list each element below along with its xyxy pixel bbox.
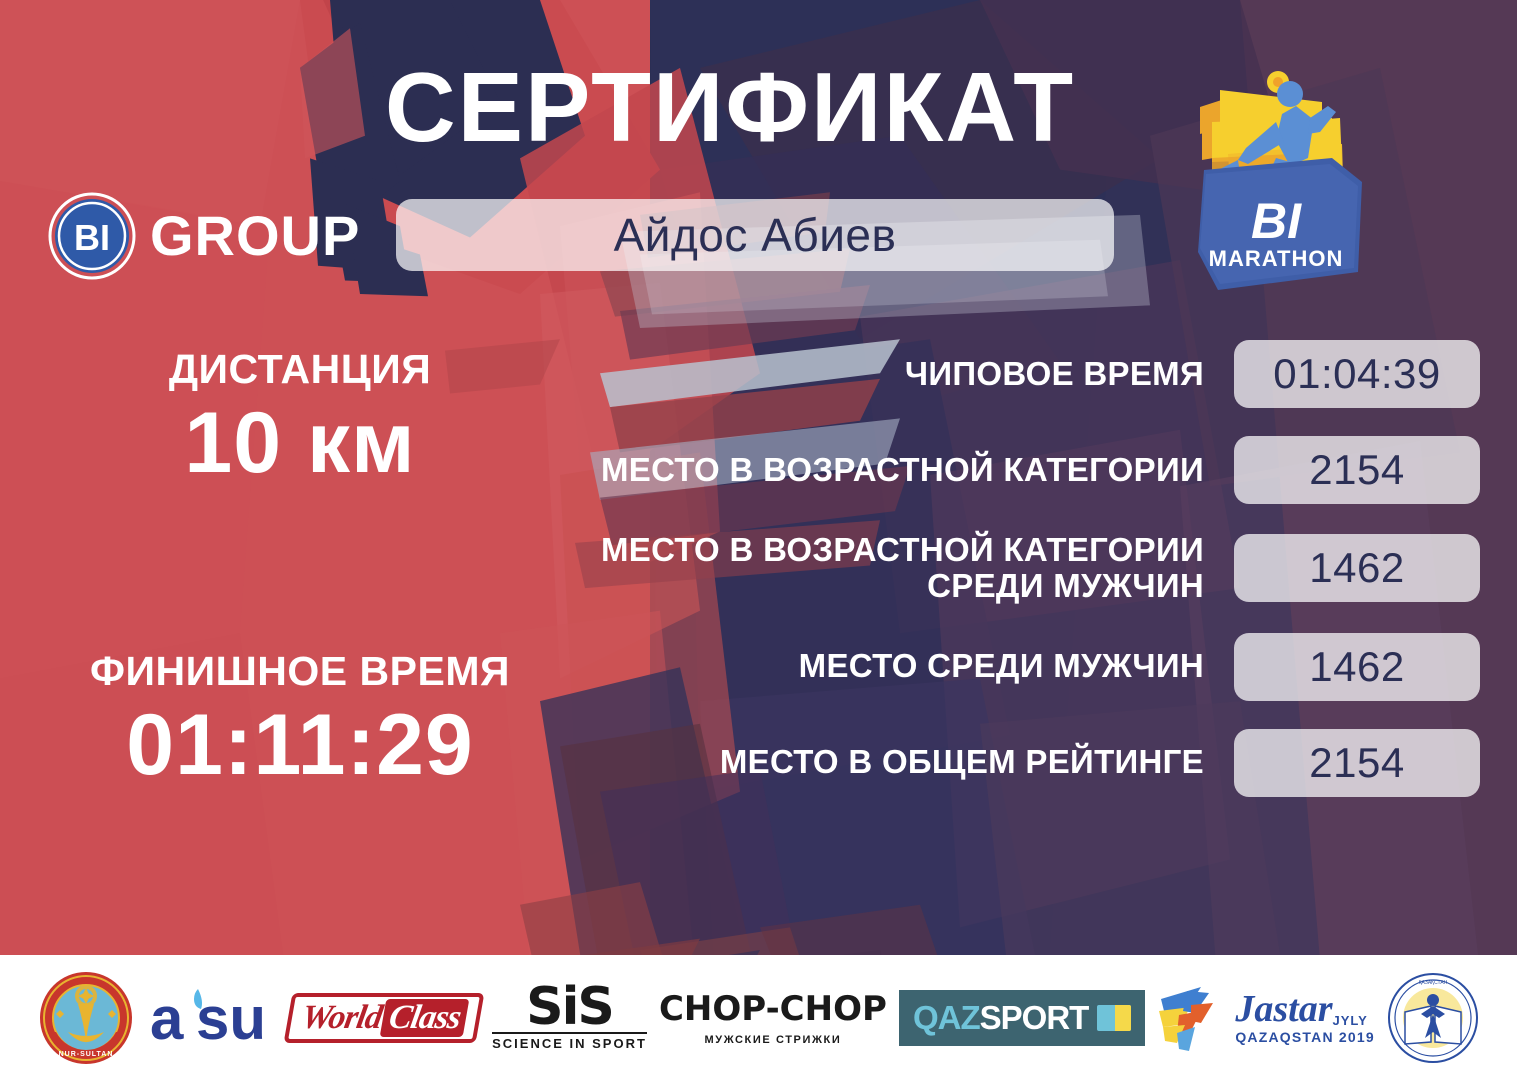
stat-row: МЕСТО В ОБЩЕМ РЕЙТИНГЕ 2154: [520, 729, 1480, 797]
stat-value-pill: 1462: [1234, 534, 1480, 602]
qazsport-wordmark: QAZSPORT: [899, 990, 1145, 1046]
certificate-body: СЕРТИФИКАТ BI GROUP Айдос Абиев: [0, 0, 1517, 955]
svg-text:a: a: [150, 985, 184, 1052]
chop-chop-wordmark: CHOP-CHOP: [659, 989, 887, 1029]
stat-value: 1462: [1309, 643, 1404, 691]
stat-value-pill: 01:04:39: [1234, 340, 1480, 408]
stat-label: МЕСТО В ОБЩЕМ РЕЙТИНГЕ: [520, 744, 1204, 780]
svg-text:su: su: [196, 985, 266, 1052]
finish-time-label: ФИНИШНОЕ ВРЕМЯ: [40, 650, 560, 694]
world-class-wordmark: WorldClass: [284, 993, 485, 1043]
stat-row: ЧИПОВОЕ ВРЕМЯ 01:04:39: [520, 340, 1480, 408]
stat-label: МЕСТО СРЕДИ МУЖЧИН: [520, 648, 1204, 684]
sis-wordmark: SiS: [526, 984, 613, 1031]
stat-value: 2154: [1309, 446, 1404, 494]
bi-badge-icon: BI: [48, 192, 136, 280]
asu-logo-icon: a su: [146, 970, 276, 1066]
page-title: СЕРТИФИКАТ: [330, 58, 1130, 156]
distance-block: ДИСТАНЦИЯ 10 км: [40, 348, 560, 488]
stat-row: МЕСТО В ВОЗРАСТНОЙ КАТЕГОРИИ 2154: [520, 436, 1480, 504]
sponsor-bar: NUR-SULTAN a su WorldClass SiS SCIENCE I…: [0, 955, 1517, 1080]
chop-chop-subtitle: МУЖСКИЕ СТРИЖКИ: [705, 1034, 842, 1046]
sis-logo-icon: SiS SCIENCE IN SPORT: [492, 970, 647, 1066]
jastar-wordmark: Jastar: [1235, 990, 1332, 1028]
bi-group-label: GROUP: [150, 208, 360, 264]
chop-chop-logo-icon: CHOP-CHOP МУЖСКИЕ СТРИЖКИ: [659, 970, 887, 1066]
ministry-emblem-icon: ҚАЗАҚСТАН: [1387, 970, 1479, 1066]
qazsport-logo-icon: QAZSPORT: [899, 970, 1145, 1066]
svg-text:NUR-SULTAN: NUR-SULTAN: [59, 1051, 114, 1058]
svg-text:BI: BI: [1251, 193, 1302, 249]
stat-value: 2154: [1309, 739, 1404, 787]
qazsport-flag-icon: [1097, 1005, 1131, 1031]
stat-value-pill: 1462: [1234, 633, 1480, 701]
certificate-canvas: СЕРТИФИКАТ BI GROUP Айдос Абиев: [0, 0, 1517, 1080]
jastar-subtitle: QAZAQSTAN 2019: [1235, 1029, 1374, 1045]
sis-subtitle: SCIENCE IN SPORT: [492, 1032, 647, 1051]
bi-marathon-logo: BI MARATHON: [1172, 62, 1372, 300]
stat-label: МЕСТО В ВОЗРАСТНОЙ КАТЕГОРИИ: [520, 452, 1204, 488]
finish-time-block: ФИНИШНОЕ ВРЕМЯ 01:11:29: [40, 650, 560, 790]
distance-value: 10 км: [40, 398, 560, 488]
stat-row: МЕСТО СРЕДИ МУЖЧИН 1462: [520, 633, 1480, 701]
stat-value-pill: 2154: [1234, 729, 1480, 797]
jastar-jyly-badge: JYLY: [1332, 1013, 1367, 1028]
stat-label: ЧИПОВОЕ ВРЕМЯ: [520, 356, 1204, 392]
svg-text:MARATHON: MARATHON: [1209, 246, 1344, 271]
bi-group-logo: BI GROUP: [48, 192, 360, 280]
svg-text:BI: BI: [74, 217, 110, 258]
stat-value-pill: 2154: [1234, 436, 1480, 504]
world-class-word-b: Class: [380, 999, 469, 1037]
qazsport-word-a: QAZ: [913, 999, 980, 1037]
nur-sultan-emblem-icon: NUR-SULTAN: [38, 970, 134, 1066]
qazsport-word-b: SPORT: [980, 999, 1089, 1037]
sis-wordmark-row: SiS: [526, 984, 613, 1031]
svg-text:ҚАЗАҚСТАН: ҚАЗАҚСТАН: [1418, 980, 1447, 986]
stat-value: 01:04:39: [1273, 350, 1441, 398]
world-class-word-a: World: [299, 999, 385, 1037]
participant-name-field: Айдос Абиев: [396, 199, 1114, 271]
jastar-main-row: Jastar JYLY: [1235, 990, 1374, 1028]
stat-label: МЕСТО В ВОЗРАСТНОЙ КАТЕГОРИИ СРЕДИ МУЖЧИ…: [520, 532, 1204, 605]
jastar-jyly-logo-icon: Jastar JYLY QAZAQSTAN 2019: [1157, 970, 1374, 1066]
participant-name: Айдос Абиев: [614, 208, 897, 262]
jastar-text-group: Jastar JYLY QAZAQSTAN 2019: [1235, 990, 1374, 1045]
stat-row: МЕСТО В ВОЗРАСТНОЙ КАТЕГОРИИ СРЕДИ МУЖЧИ…: [520, 532, 1480, 605]
stats-list: ЧИПОВОЕ ВРЕМЯ 01:04:39 МЕСТО В ВОЗРАСТНО…: [520, 340, 1480, 825]
distance-label: ДИСТАНЦИЯ: [40, 348, 560, 392]
stat-value: 1462: [1309, 544, 1404, 592]
finish-time-value: 01:11:29: [40, 700, 560, 790]
world-class-logo-icon: WorldClass: [288, 970, 480, 1066]
